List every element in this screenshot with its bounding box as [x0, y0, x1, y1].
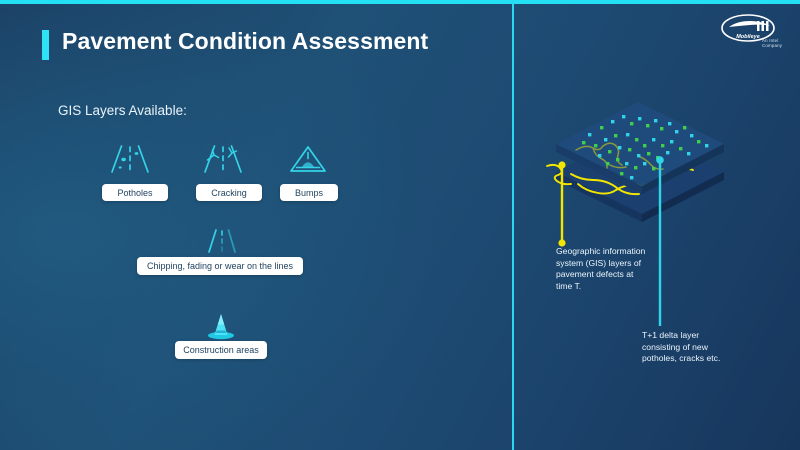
left-panel: Pavement Condition Assessment GIS Layers…: [0, 0, 512, 450]
road-cracking-icon: [201, 144, 245, 179]
bump-warning-triangle-icon: [288, 144, 328, 179]
road-potholes-icon: [108, 144, 152, 179]
chip-bumps[interactable]: Bumps: [280, 184, 338, 201]
chip-cracking[interactable]: Cracking: [196, 184, 262, 201]
chip-potholes[interactable]: Potholes: [102, 184, 168, 201]
road-faded-lines-icon: [200, 228, 244, 259]
title-accent-bar: [42, 30, 49, 60]
chip-construction[interactable]: Construction areas: [175, 341, 267, 359]
logo-tagline-line2: Company: [762, 43, 782, 48]
logo-tagline: An Intel Company: [762, 38, 782, 48]
page-title: Pavement Condition Assessment: [62, 28, 428, 55]
slide-canvas: Pavement Condition Assessment GIS Layers…: [0, 0, 800, 450]
gis-callout-leader-cyan: [640, 150, 680, 330]
callout-gis-text: Geographic information system (GIS) laye…: [556, 246, 648, 292]
chip-chipping[interactable]: Chipping, fading or wear on the lines: [137, 257, 303, 275]
section-label: GIS Layers Available:: [58, 103, 187, 118]
gis-callout-leader-yellow: [542, 155, 602, 255]
logo-wordmark: Mobileye: [736, 34, 760, 40]
callout-delta-text: T+1 delta layer consisting of new pothol…: [642, 330, 738, 365]
